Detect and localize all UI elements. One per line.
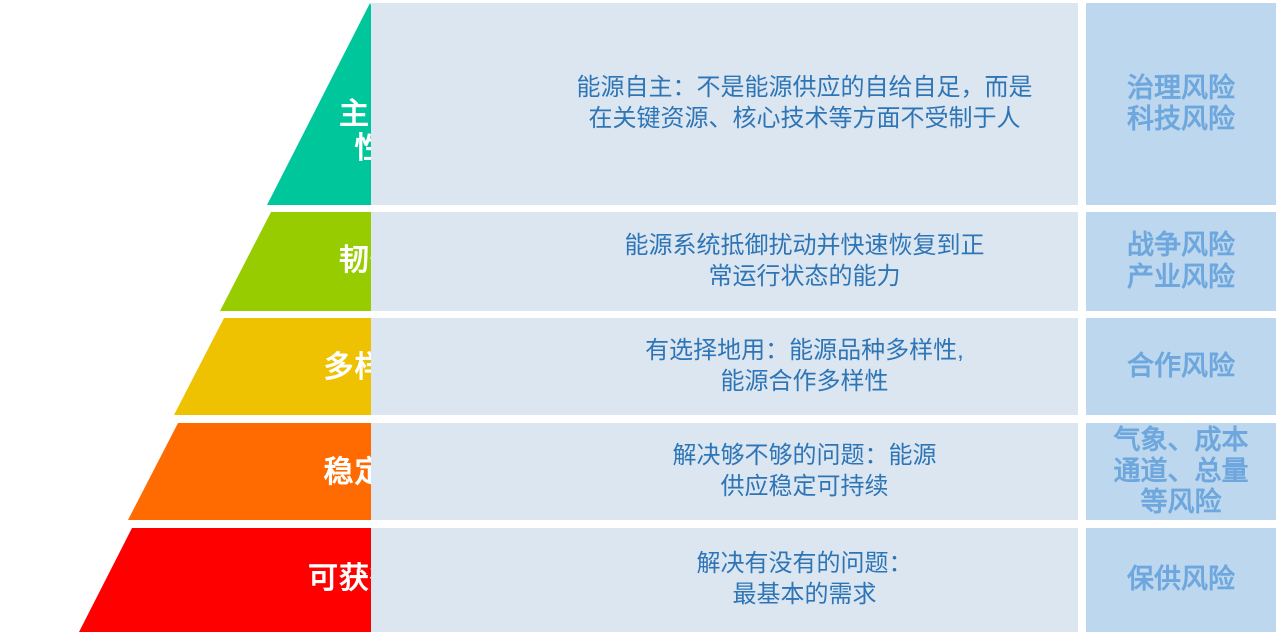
risk-panel-tier-2[interactable]: 战争风险 产业风险 xyxy=(1086,212,1276,311)
description-panel-tier-4[interactable]: 解决够不够的问题：能源 供应稳定可持续 xyxy=(371,423,1078,520)
risk-text-tier-2: 战争风险 产业风险 xyxy=(1127,230,1235,293)
risk-text-tier-4: 气象、成本 通道、总量 等风险 xyxy=(1114,425,1249,519)
description-panel-tier-1[interactable]: 能源自主：不是能源供应的自给自足，而是 在关键资源、核心技术等方面不受制于人 xyxy=(371,3,1078,205)
description-panel-tier-3[interactable]: 有选择地用：能源品种多样性, 能源合作多样性 xyxy=(371,318,1078,415)
risk-panel-tier-3[interactable]: 合作风险 xyxy=(1086,318,1276,415)
description-text-tier-3: 有选择地用：能源品种多样性, 能源合作多样性 xyxy=(645,336,964,397)
pyramid-diagram: 主动 性 韧性 多样性 稳定性 可获得性 能源自主：不是能源供应的自给自足，而是… xyxy=(0,0,1276,635)
risk-text-tier-5: 保供风险 xyxy=(1127,564,1235,595)
description-text-tier-4: 解决够不够的问题：能源 供应稳定可持续 xyxy=(673,441,937,502)
risk-text-tier-1: 治理风险 科技风险 xyxy=(1127,73,1235,136)
description-text-tier-5: 解决有没有的问题： 最基本的需求 xyxy=(697,549,913,610)
description-text-tier-2: 能源系统抵御扰动并快速恢复到正 常运行状态的能力 xyxy=(625,231,985,292)
risk-text-tier-3: 合作风险 xyxy=(1127,351,1235,382)
description-text-tier-1: 能源自主：不是能源供应的自给自足，而是 在关键资源、核心技术等方面不受制于人 xyxy=(577,73,1033,134)
risk-panel-tier-4[interactable]: 气象、成本 通道、总量 等风险 xyxy=(1086,423,1276,520)
risk-panel-tier-5[interactable]: 保供风险 xyxy=(1086,528,1276,632)
risk-panel-tier-1[interactable]: 治理风险 科技风险 xyxy=(1086,3,1276,205)
description-panel-tier-2[interactable]: 能源系统抵御扰动并快速恢复到正 常运行状态的能力 xyxy=(371,212,1078,311)
description-panel-tier-5[interactable]: 解决有没有的问题： 最基本的需求 xyxy=(371,528,1078,632)
